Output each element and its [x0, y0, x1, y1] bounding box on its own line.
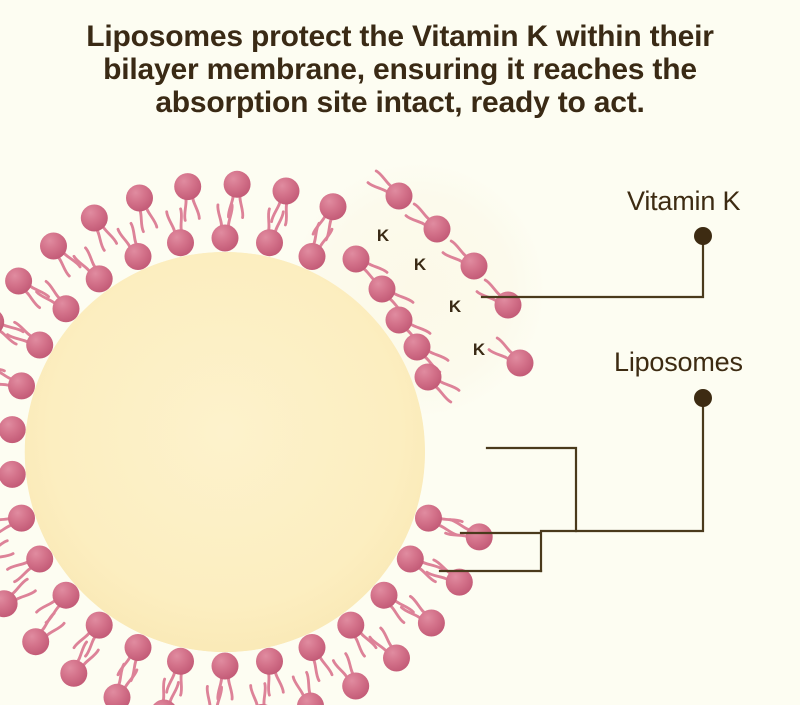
- lipid-outer-leaflet: [224, 171, 251, 218]
- lipid-inner-leaflet: [0, 461, 26, 488]
- lipid-inner-leaflet: [212, 205, 239, 252]
- lipid-inner-leaflet: [371, 582, 414, 623]
- vitamin-k-marker: K: [414, 255, 427, 274]
- callout-dot-liposomes[interactable]: [694, 389, 712, 407]
- lipid-outer-leaflet: [249, 684, 276, 705]
- lipid-outer-leaflet: [5, 268, 49, 308]
- lipid-outer-leaflet: [151, 679, 179, 705]
- lipid-inner-leaflet: [37, 582, 80, 623]
- lipid-outer-leaflet: [0, 579, 35, 617]
- lipid-inner-leaflet: [0, 369, 35, 400]
- lipid-inner-leaflet: [299, 634, 333, 681]
- vitamin-k-marker: K: [473, 340, 486, 359]
- vitamin-k-marker: K: [377, 226, 390, 245]
- lipid-inner-leaflet: [0, 505, 35, 536]
- lipid-inner-leaflet: [256, 648, 283, 695]
- vitamin-k-marker: K: [449, 297, 462, 316]
- lipid-outer-leaflet: [22, 613, 64, 655]
- lipid-outer-leaflet: [40, 233, 80, 277]
- lipid-outer-leaflet: [60, 642, 98, 687]
- lipid-outer-leaflet: [174, 173, 201, 220]
- lipid-inner-leaflet: [256, 209, 283, 256]
- lipid-inner-leaflet: [212, 653, 239, 700]
- infographic-canvas: KKKK Liposomes protect the Vitamin K wit…: [0, 0, 800, 705]
- lipid-outer-leaflet: [293, 672, 324, 705]
- lipid-inner-leaflet: [167, 648, 194, 695]
- lipid-outer-leaflet: [446, 520, 493, 551]
- lipid-outer-leaflet: [401, 596, 445, 636]
- lipid-inner-leaflet: [167, 209, 194, 256]
- lipid-inner-leaflet: [415, 505, 462, 536]
- lipid-inner-leaflet: [74, 612, 113, 657]
- lipid-inner-leaflet: [0, 416, 26, 443]
- lipid-outer-leaflet: [272, 178, 300, 225]
- lipid-outer-leaflet: [370, 628, 410, 672]
- lipid-inner-leaflet: [37, 281, 80, 322]
- lipid-inner-leaflet: [337, 612, 376, 657]
- lipid-outer-leaflet: [199, 686, 226, 705]
- lipid-outer-leaflet: [81, 205, 117, 251]
- callout-label-vitamin-k: Vitamin K: [627, 186, 740, 217]
- lipid-outer-leaflet: [333, 654, 369, 700]
- callout-label-liposomes: Liposomes: [614, 347, 743, 378]
- lipid-inner-leaflet: [8, 546, 54, 582]
- lipid-inner-leaflet: [118, 223, 152, 270]
- lipid-inner-leaflet: [74, 248, 113, 293]
- lipid-outer-leaflet: [0, 354, 4, 385]
- callout-dot-vitamin-k[interactable]: [694, 227, 712, 245]
